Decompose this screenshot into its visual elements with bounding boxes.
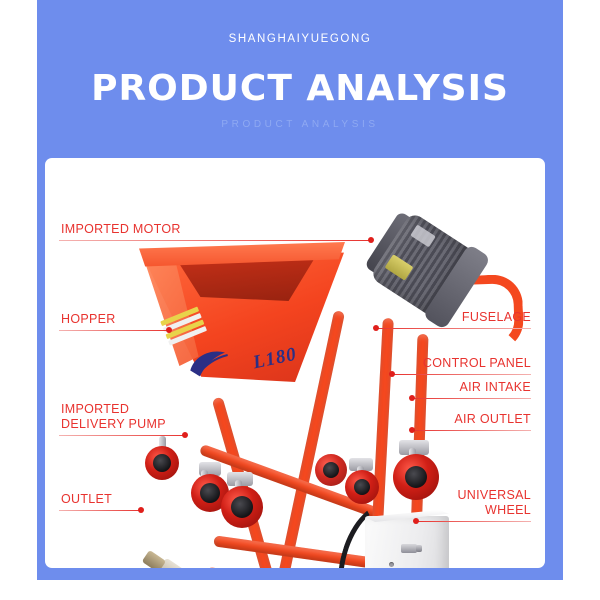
callout-line-outlet bbox=[59, 510, 141, 511]
callout-label-air-intake: AIR INTAKE bbox=[459, 380, 531, 395]
callout-dot-outlet bbox=[138, 507, 144, 513]
callout-label-imported-motor: IMPORTED MOTOR bbox=[61, 222, 181, 237]
callout-label-hopper: HOPPER bbox=[61, 312, 116, 327]
imported-delivery-pump bbox=[170, 565, 295, 568]
machine-illustration: L180 bbox=[45, 158, 545, 568]
callout-line-air-outlet bbox=[413, 430, 531, 431]
callout-dot-fuselage bbox=[373, 325, 379, 331]
callout-dot-universal-wheel bbox=[413, 518, 419, 524]
callout-dot-air-outlet bbox=[409, 427, 415, 433]
page-title: PRODUCT ANALYSIS bbox=[37, 68, 563, 109]
callout-line-imported-delivery-pump bbox=[59, 435, 185, 436]
callout-line-universal-wheel bbox=[417, 521, 531, 522]
callout-label-control-panel: CONTROL PANEL bbox=[423, 356, 531, 371]
callout-dot-control-panel bbox=[389, 371, 395, 377]
callout-dot-air-intake bbox=[409, 395, 415, 401]
page-subtitle: PRODUCT ANALYSIS bbox=[37, 119, 563, 130]
callout-label-universal-wheel-line2: WHEEL bbox=[485, 503, 531, 518]
callout-line-imported-motor bbox=[59, 240, 371, 241]
callout-label-imported-delivery-pump-line1: IMPORTED bbox=[61, 402, 129, 417]
outlet-tip bbox=[142, 550, 166, 568]
pump-barrel bbox=[171, 565, 290, 568]
air-intake-fitting bbox=[401, 544, 417, 553]
callout-line-control-panel bbox=[393, 374, 531, 375]
panel-screw bbox=[389, 562, 394, 567]
callout-label-air-outlet: AIR OUTLET bbox=[454, 412, 531, 427]
callout-label-universal-wheel-line1: UNIVERSAL bbox=[457, 488, 531, 503]
content-card: L180 bbox=[45, 158, 545, 568]
callout-dot-hopper bbox=[166, 327, 172, 333]
callout-line-air-intake bbox=[413, 398, 531, 399]
callout-dot-imported-motor bbox=[368, 237, 374, 243]
callout-label-outlet: OUTLET bbox=[61, 492, 112, 507]
brand-name: SHANGHAIYUEGONG bbox=[37, 33, 563, 45]
callout-label-imported-delivery-pump-line2: DELIVERY PUMP bbox=[61, 417, 166, 432]
control-panel-box bbox=[365, 516, 449, 568]
callout-dot-imported-delivery-pump bbox=[182, 432, 188, 438]
product-analysis-infographic: SHANGHAIYUEGONG PRODUCT ANALYSIS PRODUCT… bbox=[0, 0, 600, 600]
callout-line-hopper bbox=[59, 330, 169, 331]
callout-label-fuselage: FUSELAGE bbox=[462, 310, 531, 325]
callout-line-fuselage bbox=[377, 328, 531, 329]
